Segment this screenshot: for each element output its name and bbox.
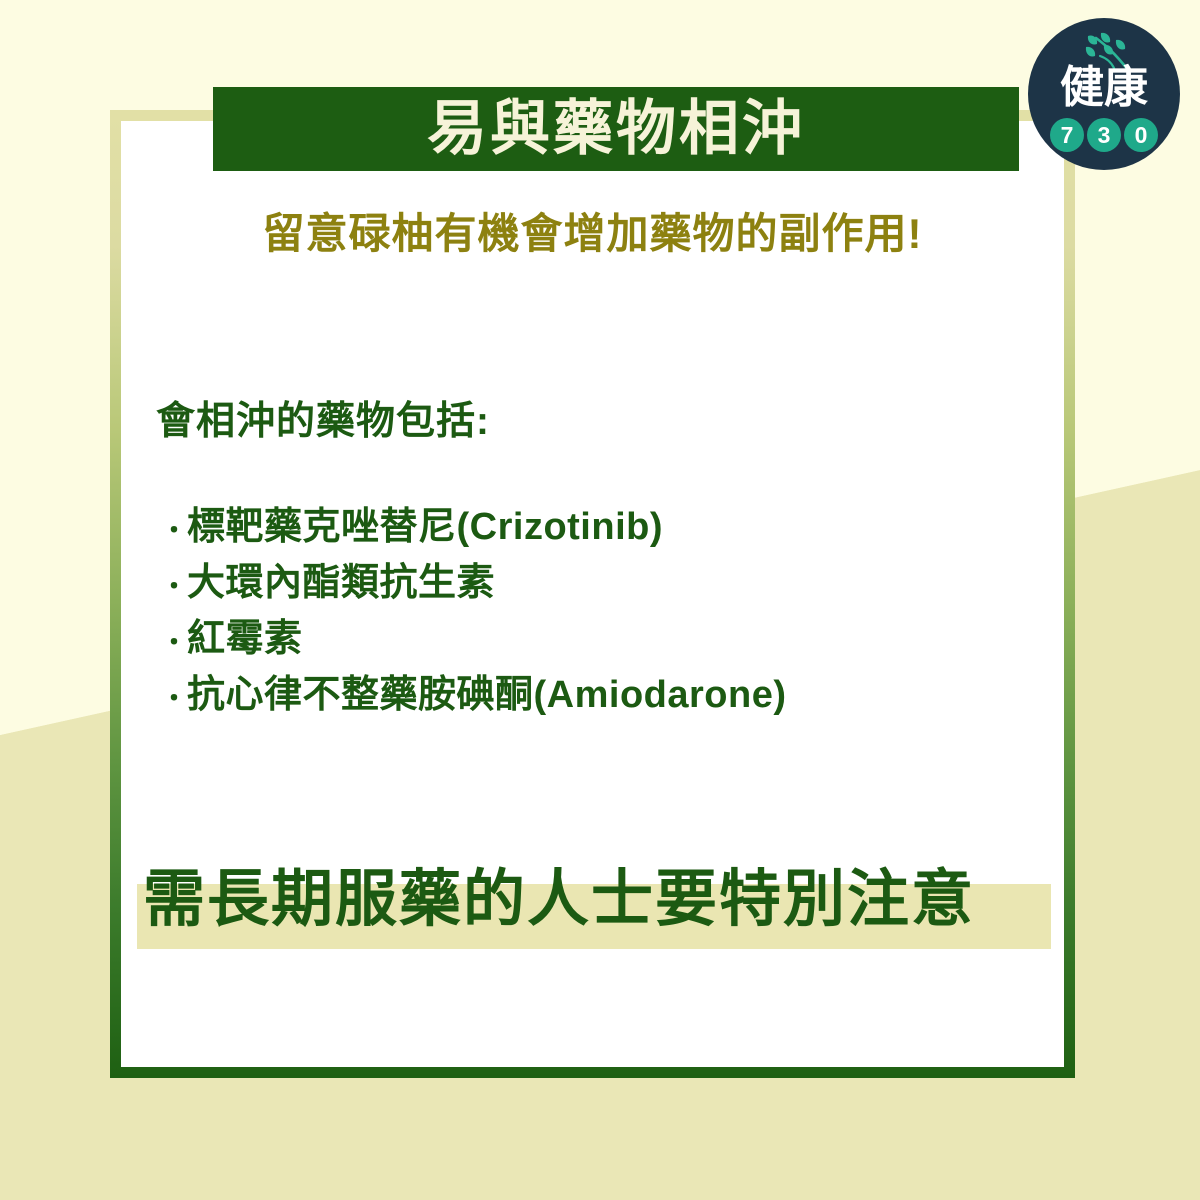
page-title: 易與藥物相沖 — [427, 99, 805, 159]
bullet-dot-icon: ・ — [161, 672, 187, 725]
logo-wordmark: 健康 — [1028, 66, 1180, 110]
list-item-label: 標靶藥克唑替尼(Crizotinib) — [187, 501, 663, 554]
list-item: ・ 大環內酯類抗生素 — [161, 557, 1041, 613]
list-item-label: 紅霉素 — [187, 613, 303, 666]
brand-logo: 健康 7 3 0 — [1028, 18, 1180, 170]
logo-digit: 7 — [1050, 118, 1084, 152]
list-item: ・ 紅霉素 — [161, 613, 1041, 669]
list-item: ・ 抗心律不整藥胺碘酮(Amiodarone) — [161, 669, 1041, 725]
list-item: ・ 標靶藥克唑替尼(Crizotinib) — [161, 501, 1041, 557]
lead-text: 會相沖的藥物包括: — [156, 402, 490, 441]
logo-digit: 0 — [1124, 118, 1158, 152]
list-item-label: 大環內酯類抗生素 — [187, 557, 495, 610]
bullet-dot-icon: ・ — [161, 616, 187, 669]
drug-list: ・ 標靶藥克唑替尼(Crizotinib) ・ 大環內酯類抗生素 ・ 紅霉素 ・… — [161, 501, 1041, 725]
list-item-label: 抗心律不整藥胺碘酮(Amiodarone) — [187, 669, 787, 722]
poster-canvas: 易與藥物相沖 留意碌柚有機會增加藥物的副作用! 會相沖的藥物包括: ・ 標靶藥克… — [0, 0, 1200, 1200]
logo-digits: 7 3 0 — [1028, 118, 1180, 152]
highlight-text: 需長期服藥的人士要特別注意 — [143, 861, 1053, 939]
bullet-dot-icon: ・ — [161, 560, 187, 613]
content-card: 易與藥物相沖 留意碌柚有機會增加藥物的副作用! 會相沖的藥物包括: ・ 標靶藥克… — [110, 110, 1075, 1078]
subtitle-text: 留意碌柚有機會增加藥物的副作用! — [121, 213, 1064, 255]
highlight-callout: 需長期服藥的人士要特別注意 — [121, 861, 1064, 981]
logo-digit: 3 — [1087, 118, 1121, 152]
title-banner: 易與藥物相沖 — [213, 87, 1019, 171]
bullet-dot-icon: ・ — [161, 504, 187, 557]
content-card-inner: 易與藥物相沖 留意碌柚有機會增加藥物的副作用! 會相沖的藥物包括: ・ 標靶藥克… — [121, 121, 1064, 1067]
